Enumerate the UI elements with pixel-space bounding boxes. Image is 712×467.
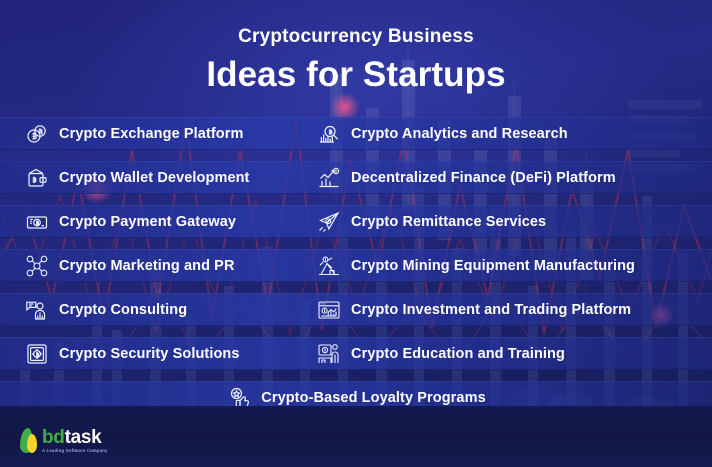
list-row[interactable]: Crypto Security Solutions Crypto Educati… xyxy=(0,337,712,370)
list-item[interactable]: Crypto Mining Equipment Manufacturing xyxy=(310,249,712,282)
list-item[interactable]: Decentralized Finance (DeFi) Platform xyxy=(310,161,712,194)
list-item[interactable]: Crypto Wallet Development xyxy=(0,161,310,194)
list-item[interactable]: Crypto Analytics and Research xyxy=(310,117,712,150)
network-nodes-icon xyxy=(24,253,50,279)
list-row[interactable]: Crypto Payment Gateway Crypto Remittance… xyxy=(0,205,712,238)
list-item-label: Decentralized Finance (DeFi) Platform xyxy=(351,170,616,186)
list-item-label: Crypto Consulting xyxy=(59,302,187,318)
infographic-canvas: Cryptocurrency Business Ideas for Startu… xyxy=(0,0,712,467)
header-subtitle: Cryptocurrency Business xyxy=(0,26,712,48)
education-board-icon xyxy=(316,341,342,367)
list-item-label: Crypto Exchange Platform xyxy=(59,126,244,142)
list-item-label: Crypto Marketing and PR xyxy=(59,258,235,274)
list-item-label: Crypto Security Solutions xyxy=(59,346,240,362)
list-row[interactable]: Crypto Consulting Crypto Investment and … xyxy=(0,293,712,326)
logo-tagline: A Leading Software Company xyxy=(42,449,108,453)
safe-vault-icon xyxy=(24,341,50,367)
consultant-person-icon xyxy=(24,297,50,323)
ideas-list: Crypto Exchange Platform Crypto Analytic… xyxy=(0,117,712,414)
row-divider xyxy=(0,194,712,205)
magnifier-bar-chart-icon xyxy=(316,121,342,147)
list-item-label: Crypto Education and Training xyxy=(351,346,565,362)
list-item-label: Crypto Remittance Services xyxy=(351,214,546,230)
row-divider xyxy=(0,238,712,249)
list-item[interactable]: Crypto Education and Training xyxy=(310,337,712,370)
list-item[interactable]: Crypto Consulting xyxy=(0,293,310,326)
list-item[interactable]: Crypto Remittance Services xyxy=(310,205,712,238)
list-item-label: Crypto-Based Loyalty Programs xyxy=(261,390,486,406)
crypto-wallet-icon xyxy=(24,165,50,191)
list-row[interactable]: Crypto Exchange Platform Crypto Analytic… xyxy=(0,117,712,150)
header: Cryptocurrency Business Ideas for Startu… xyxy=(0,0,712,117)
list-item-label: Crypto Payment Gateway xyxy=(59,214,236,230)
list-item-label: Crypto Mining Equipment Manufacturing xyxy=(351,258,635,274)
row-divider xyxy=(0,326,712,337)
logo-name-first: bd xyxy=(42,427,65,448)
mining-rig-icon xyxy=(316,253,342,279)
list-item-label: Crypto Investment and Trading Platform xyxy=(351,302,631,318)
list-item-label: Crypto Analytics and Research xyxy=(351,126,568,142)
bitcoin-dollar-coins-icon xyxy=(24,121,50,147)
banknote-bitcoin-icon xyxy=(24,209,50,235)
list-item[interactable]: Crypto Exchange Platform xyxy=(0,117,310,150)
list-item[interactable]: Crypto Payment Gateway xyxy=(0,205,310,238)
leaf-logo-icon xyxy=(20,428,37,453)
growth-chart-coin-icon xyxy=(316,165,342,191)
list-item[interactable]: Crypto Investment and Trading Platform xyxy=(310,293,712,326)
paper-plane-icon xyxy=(316,209,342,235)
bdtask-logo[interactable]: bdtask A Leading Software Company xyxy=(20,428,108,453)
list-item[interactable]: Crypto Security Solutions xyxy=(0,337,310,370)
list-row[interactable]: Crypto Marketing and PR Crypto Mining Eq… xyxy=(0,249,712,282)
browser-trading-chart-icon xyxy=(316,297,342,323)
row-divider xyxy=(0,370,712,381)
row-divider xyxy=(0,282,712,293)
page-title: Ideas for Startups xyxy=(0,55,712,95)
list-row[interactable]: Crypto Wallet Development Decentralized … xyxy=(0,161,712,194)
list-item-label: Crypto Wallet Development xyxy=(59,170,250,186)
list-item[interactable]: Crypto Marketing and PR xyxy=(0,249,310,282)
logo-name-second: task xyxy=(65,427,102,448)
logo-text: bdtask A Leading Software Company xyxy=(42,428,108,453)
row-divider xyxy=(0,150,712,161)
